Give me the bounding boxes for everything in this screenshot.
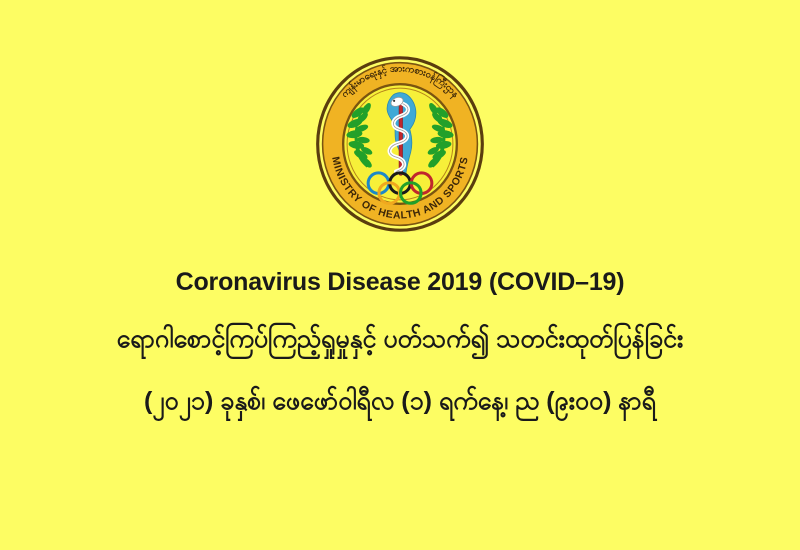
announcement-title-english: Coronavirus Disease 2019 (COVID–19) [0,268,800,297]
announcement-subtitle-burmese: ရောဂါစောင့်ကြပ်ကြည့်ရှုမှုနှင့် ပတ်သက်၍ … [0,323,800,357]
covid-announcement-poster: ကျန်းမာရေးနှင့် အားကစားဝန်ကြီးဌာန MINIST… [0,0,800,550]
emblem-container: ကျန်းမာရေးနှင့် အားကစားဝန်ကြီးဌာန MINIST… [0,46,800,242]
announcement-text-block: Coronavirus Disease 2019 (COVID–19) ရောဂ… [0,268,800,418]
announcement-datetime-burmese: (၂၀၂၁) ခုနှစ်၊ ဖေဖော်ဝါရီလ (၁) ရက်နေ့၊ ည… [0,385,800,419]
ministry-of-health-and-sports-seal-icon: ကျန်းမာရေးနှင့် အားကစားဝန်ကြီးဌာန MINIST… [302,46,498,242]
